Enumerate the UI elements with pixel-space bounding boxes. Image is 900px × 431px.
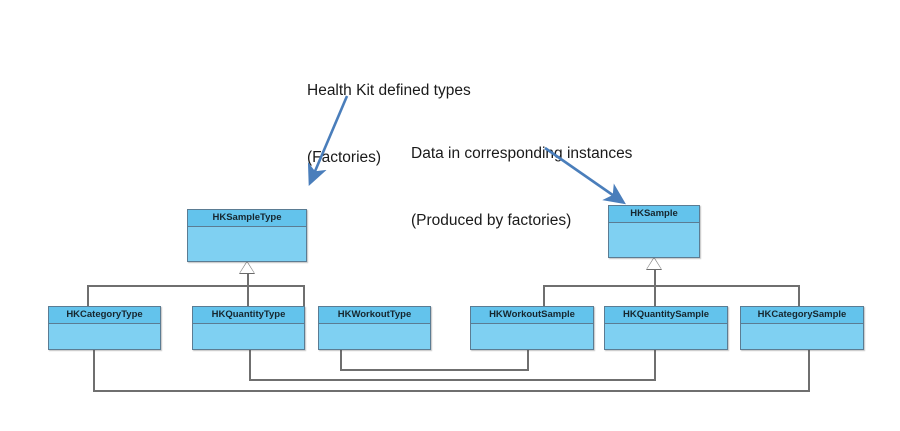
- class-box-hkcategorytype[interactable]: HKCategoryType: [48, 306, 161, 350]
- class-body-hkworkoutsample: [471, 324, 593, 349]
- association-riser-hkworkouttype: [340, 348, 342, 371]
- association-riser-hkquantitytype: [249, 348, 251, 381]
- class-box-hkworkouttype[interactable]: HKWorkoutType: [318, 306, 431, 350]
- class-box-hkcategorysample[interactable]: HKCategorySample: [740, 306, 864, 350]
- class-box-hkquantitytype[interactable]: HKQuantityType: [192, 306, 305, 350]
- association-base-category: [93, 390, 809, 392]
- association-riser-hkquantitysample: [654, 348, 656, 381]
- class-name-hksampletype: HKSampleType: [188, 210, 306, 227]
- association-riser-hkcategorytype: [93, 348, 95, 392]
- generalization-drop-hkquantitytype: [247, 285, 249, 308]
- class-box-hkworkoutsample[interactable]: HKWorkoutSample: [470, 306, 594, 350]
- generalization-drop-hkworkoutsample: [543, 285, 545, 308]
- association-base-quantity: [249, 379, 655, 381]
- class-box-hksampletype[interactable]: HKSampleType: [187, 209, 307, 262]
- annotation-line-2: (Produced by factories): [411, 210, 632, 232]
- class-body-hkcategorysample: [741, 324, 863, 349]
- generalization-drop-hkcategorysample: [798, 285, 800, 308]
- class-body-hkcategorytype: [49, 324, 160, 349]
- generalization-bus-types: [87, 285, 304, 287]
- generalization-drop-hkcategorytype: [87, 285, 89, 308]
- class-box-hkquantitysample[interactable]: HKQuantitySample: [604, 306, 728, 350]
- class-name-hksample: HKSample: [609, 206, 699, 223]
- generalization-drop-hkworkouttype: [303, 285, 305, 308]
- annotation-line-1: Data in corresponding instances: [411, 143, 632, 165]
- class-name-hkquantitytype: HKQuantityType: [193, 307, 304, 324]
- association-base-workout: [340, 369, 528, 371]
- class-body-hksample: [609, 223, 699, 257]
- class-name-hkcategorytype: HKCategoryType: [49, 307, 160, 324]
- class-box-hksample[interactable]: HKSample: [608, 205, 700, 258]
- class-name-hkworkoutsample: HKWorkoutSample: [471, 307, 593, 324]
- class-name-hkcategorysample: HKCategorySample: [741, 307, 863, 324]
- class-body-hksampletype: [188, 227, 306, 261]
- class-name-hkworkouttype: HKWorkoutType: [319, 307, 430, 324]
- class-body-hkworkouttype: [319, 324, 430, 349]
- annotation-data-in-corresponding-instances: Data in corresponding instances (Produce…: [411, 98, 632, 278]
- association-riser-hkcategorysample: [808, 348, 810, 392]
- generalization-bus-samples: [543, 285, 799, 287]
- association-riser-hkworkoutsample: [527, 348, 529, 371]
- class-body-hkquantitysample: [605, 324, 727, 349]
- class-name-hkquantitysample: HKQuantitySample: [605, 307, 727, 324]
- class-body-hkquantitytype: [193, 324, 304, 349]
- generalization-drop-hkquantitysample: [654, 285, 656, 308]
- diagram-canvas: Health Kit defined types (Factories) Dat…: [0, 0, 900, 431]
